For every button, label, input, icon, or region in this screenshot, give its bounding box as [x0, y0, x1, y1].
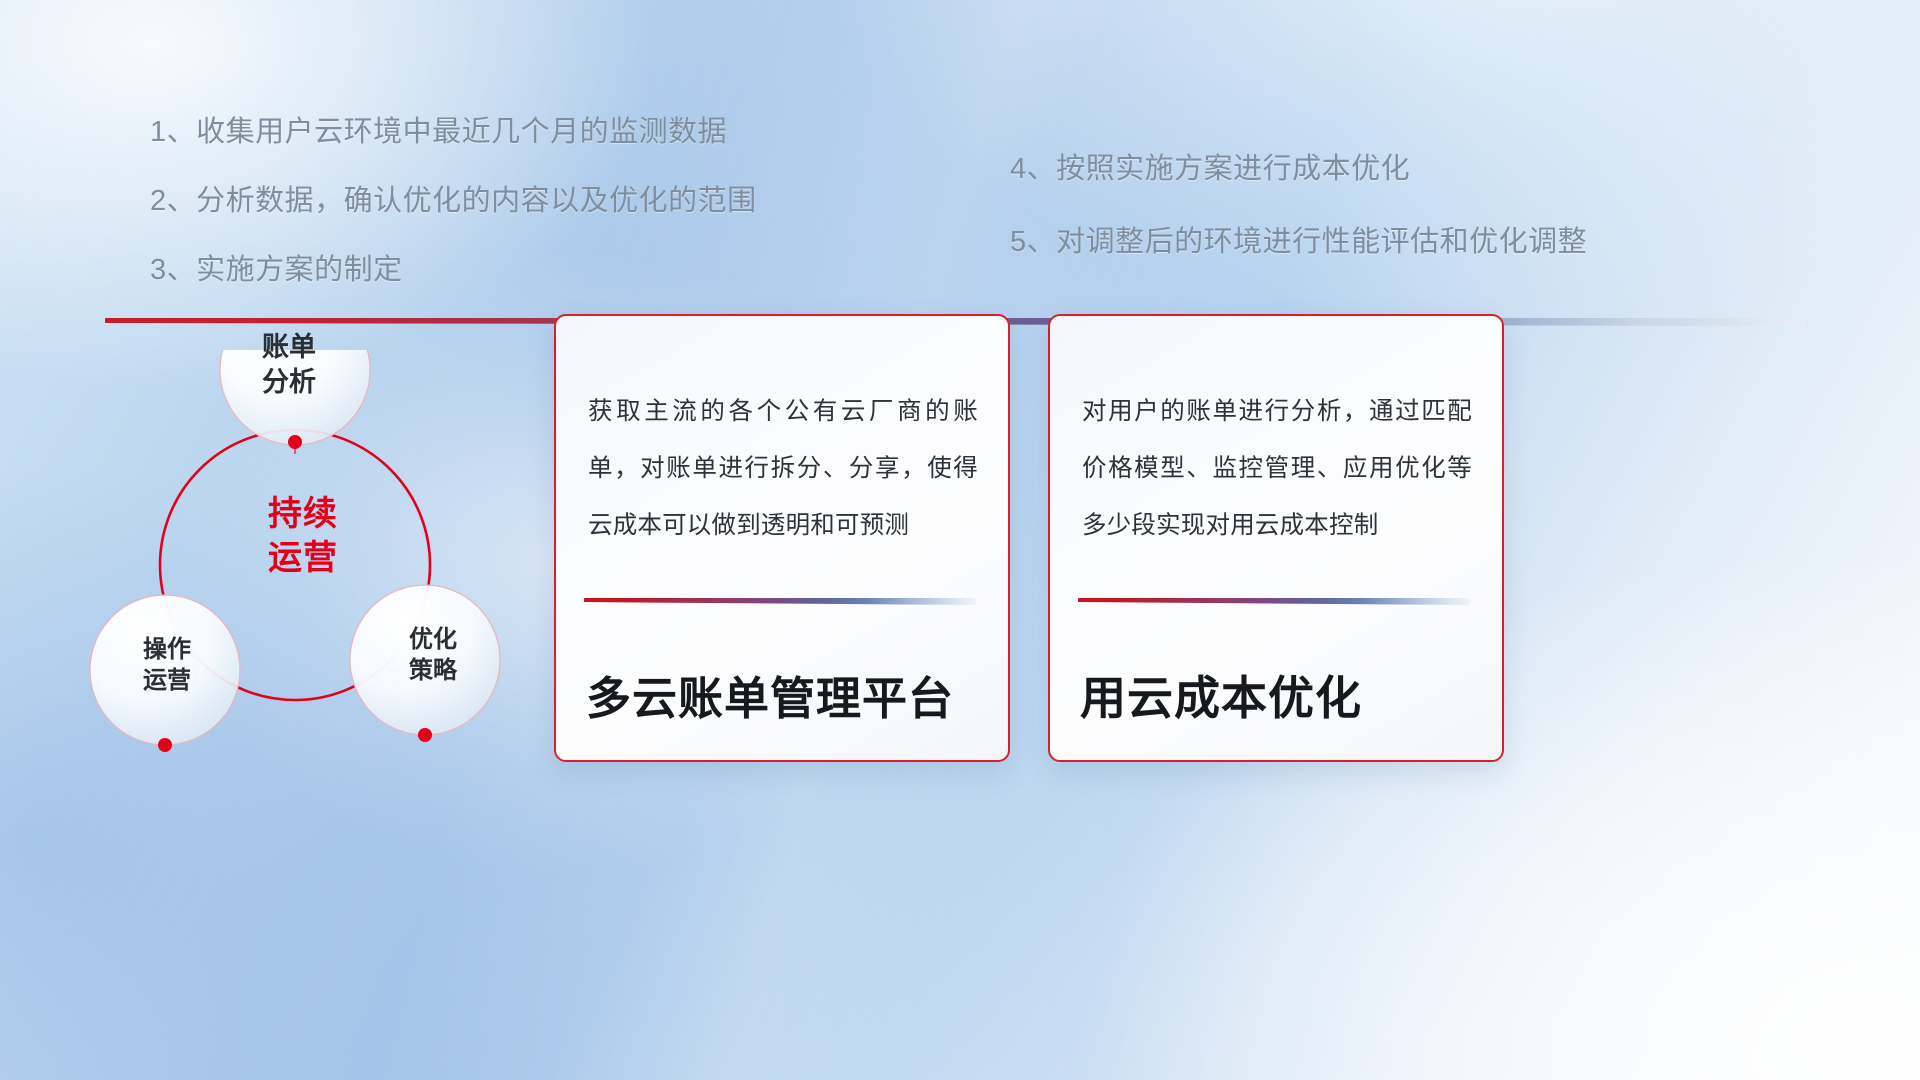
card-title: 多云账单管理平台 — [586, 662, 984, 727]
bubble-optimization-strategy — [350, 585, 500, 735]
card-divider — [1078, 598, 1470, 605]
card-title: 用云成本优化 — [1080, 662, 1478, 728]
marker-dot-bottom-left — [158, 738, 172, 752]
step-item-5: 5、对调整后的环境进行性能评估和优化调整 — [1010, 228, 1587, 257]
marker-dot-bottom-right — [418, 728, 432, 742]
step-item-1: 1、收集用户云环境中最近几个月的监测数据 — [150, 118, 757, 147]
step-item-4: 4、按照实施方案进行成本优化 — [1010, 155, 1587, 184]
card-body-text: 获取主流的各个公有云厂商的账单，对账单进行拆分、分享，使得云成本可以做到透明和可… — [588, 384, 978, 554]
diagram-center-line2: 运营 — [238, 537, 368, 581]
diagram-center-line1: 持续 — [238, 493, 368, 537]
step-item-2: 2、分析数据，确认优化的内容以及优化的范围 — [150, 187, 757, 216]
marker-dot-top — [288, 435, 302, 449]
diagram-center-label: 持续 运营 — [238, 493, 368, 580]
card-divider — [584, 598, 976, 605]
card-body-text: 对用户的账单进行分析，通过匹配价格模型、监控管理、应用优化等多少段实现对用云成本… — [1082, 384, 1472, 554]
bubble-operations — [90, 595, 240, 745]
steps-left-column: 1、收集用户云环境中最近几个月的监测数据 2、分析数据，确认优化的内容以及优化的… — [150, 118, 757, 325]
steps-right-column: 4、按照实施方案进行成本优化 5、对调整后的环境进行性能评估和优化调整 — [1010, 155, 1587, 301]
card-cloud-cost-optimization[interactable]: 对用户的账单进行分析，通过匹配价格模型、监控管理、应用优化等多少段实现对用云成本… — [1048, 314, 1504, 762]
bubble-billing-analysis — [220, 350, 370, 445]
step-item-3: 3、实施方案的制定 — [150, 256, 757, 285]
card-multi-cloud-billing-platform[interactable]: 获取主流的各个公有云厂商的账单，对账单进行拆分、分享，使得云成本可以做到透明和可… — [554, 314, 1010, 762]
